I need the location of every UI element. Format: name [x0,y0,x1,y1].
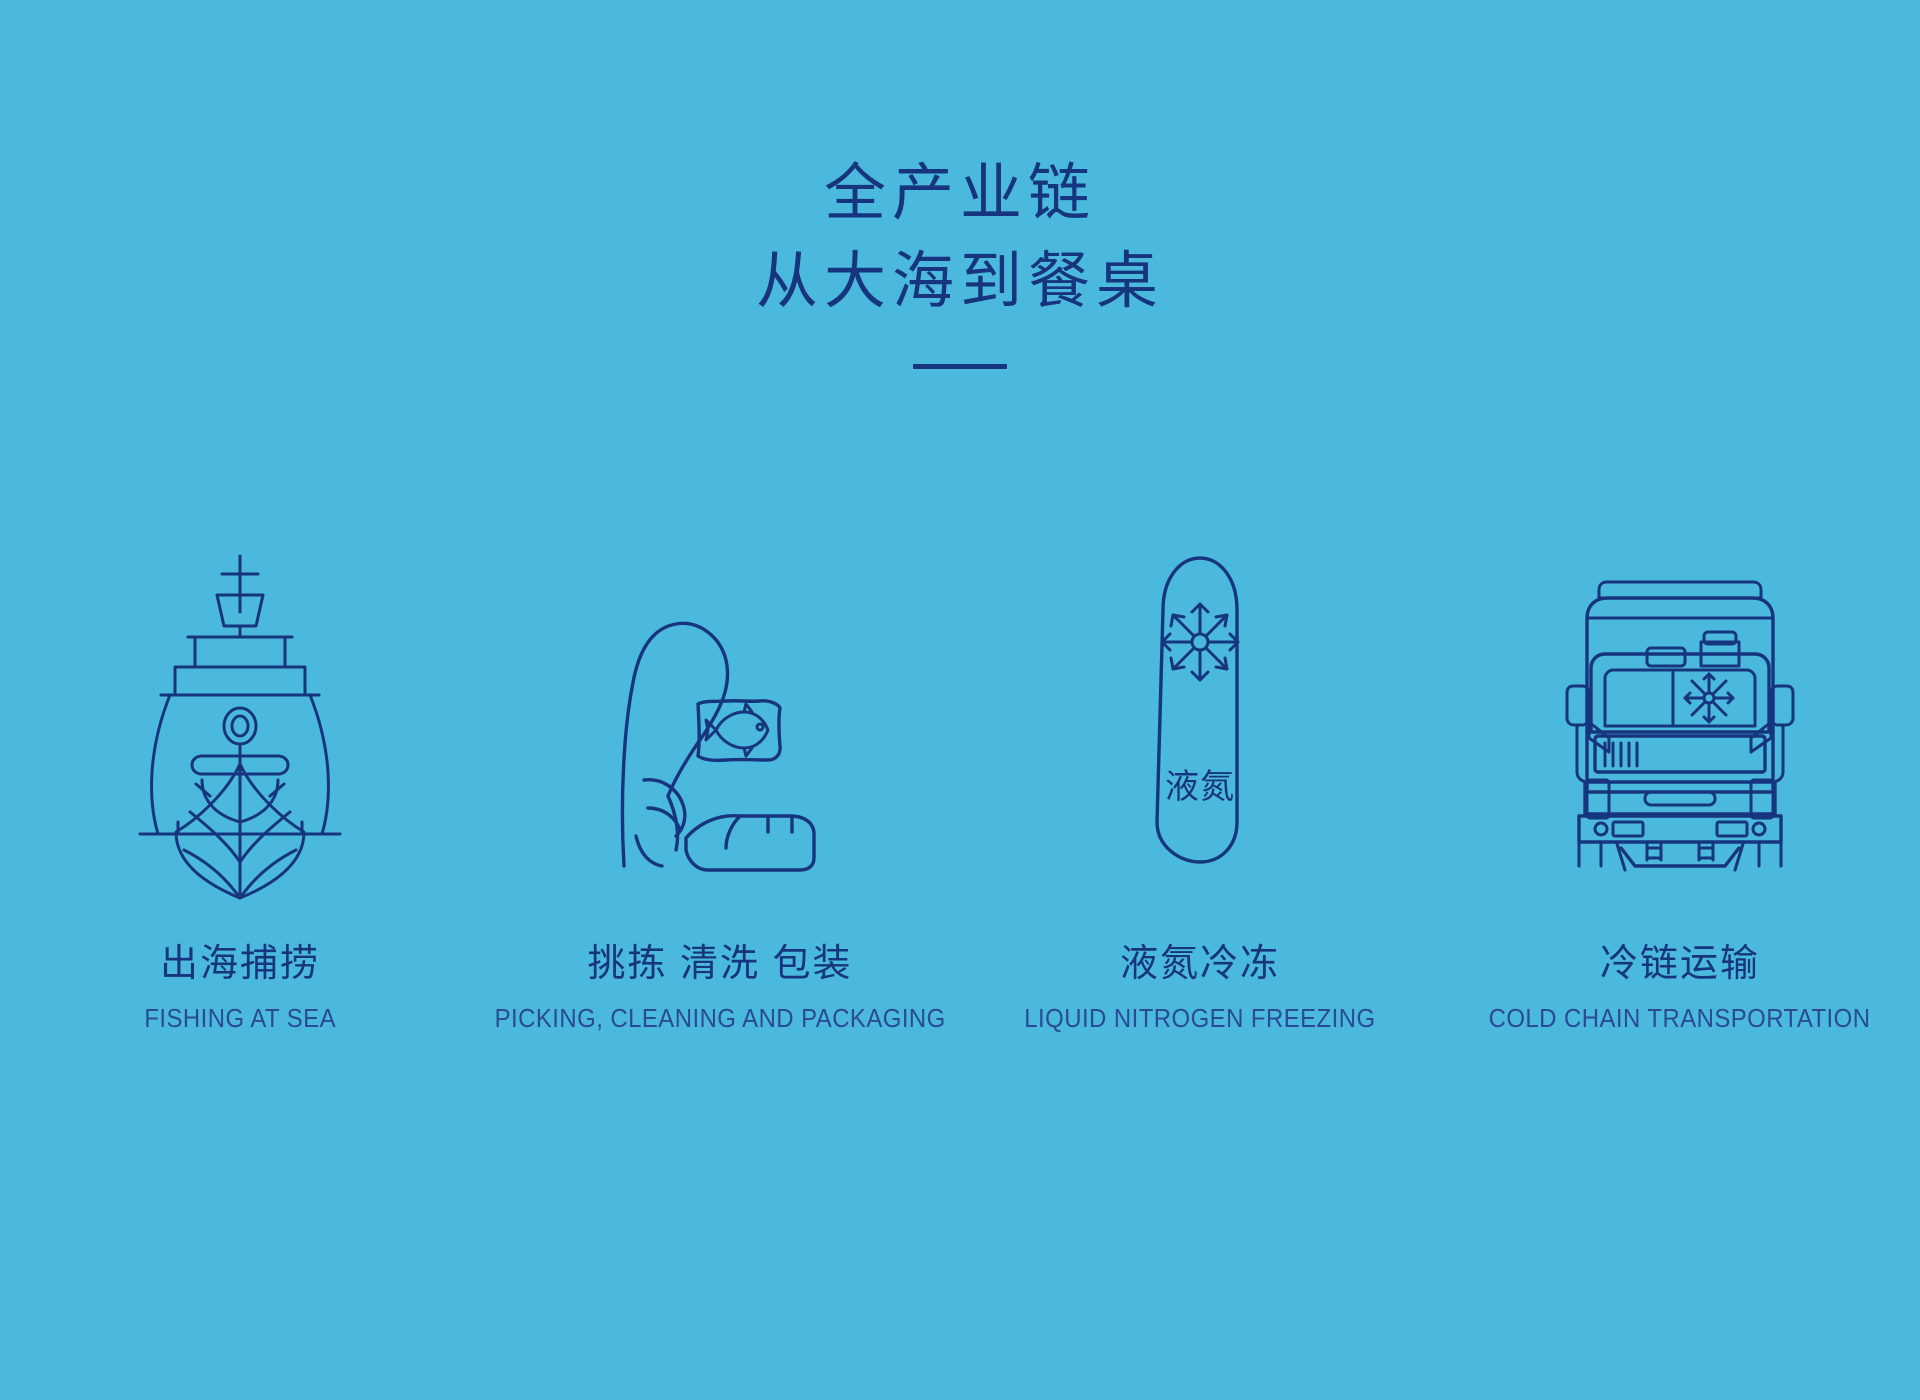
step-title-cn-nitrogen: 液氮冷冻 [1120,932,1280,987]
page-root: 全产业链 从大海到餐桌 [0,0,1920,1400]
step-title-cn-transport: 冷链运输 [1600,932,1760,987]
page-title-line-2: 从大海到餐桌 [0,238,1920,326]
icon-box-nitrogen: 液氮 [1135,540,1265,870]
step-title-cn-fishing: 出海捕捞 [160,932,320,987]
nitrogen-tank-label: 液氮 [1165,768,1235,806]
step-title-cn-picking: 挑拣 清洗 包装 [587,932,852,987]
process-steps: 出海捕捞 FISHING AT SEA [0,540,1920,1034]
fish-package-icon [698,701,780,761]
page-title-line-1: 全产业链 [0,150,1920,238]
title-divider-wrap [0,364,1920,369]
step-title-en-transport: COLD CHAIN TRANSPORTATION [1489,1003,1871,1034]
icon-box-truck [1565,540,1795,870]
step-cold-chain-transportation[interactable]: 冷链运输 COLD CHAIN TRANSPORTATION [1440,540,1920,1034]
snowflake-icon [1162,604,1238,680]
nitrogen-tank-snowflake-icon: 液氮 [1135,550,1265,870]
step-title-en-picking: PICKING, CLEANING AND PACKAGING [494,1003,945,1034]
refrigerated-truck-icon [1565,560,1795,870]
step-fishing-at-sea[interactable]: 出海捕捞 FISHING AT SEA [0,540,480,1034]
icon-box-fishing [130,540,350,870]
title-divider [913,364,1007,369]
step-title-en-nitrogen: LIQUID NITROGEN FREEZING [1024,1003,1375,1034]
step-title-en-fishing: FISHING AT SEA [144,1003,336,1034]
hands-fish-package-icon [580,570,860,870]
step-liquid-nitrogen-freezing[interactable]: 液氮 液氮冷冻 LIQUID NITROGEN FREEZING [960,540,1440,1034]
step-picking-cleaning-packaging[interactable]: 挑拣 清洗 包装 PICKING, CLEANING AND PACKAGING [480,540,960,1034]
icon-box-picking [580,540,860,870]
fishing-boat-anchor-icon [130,550,350,870]
page-header: 全产业链 从大海到餐桌 [0,0,1920,369]
snowflake-icon-windshield [1685,674,1733,722]
